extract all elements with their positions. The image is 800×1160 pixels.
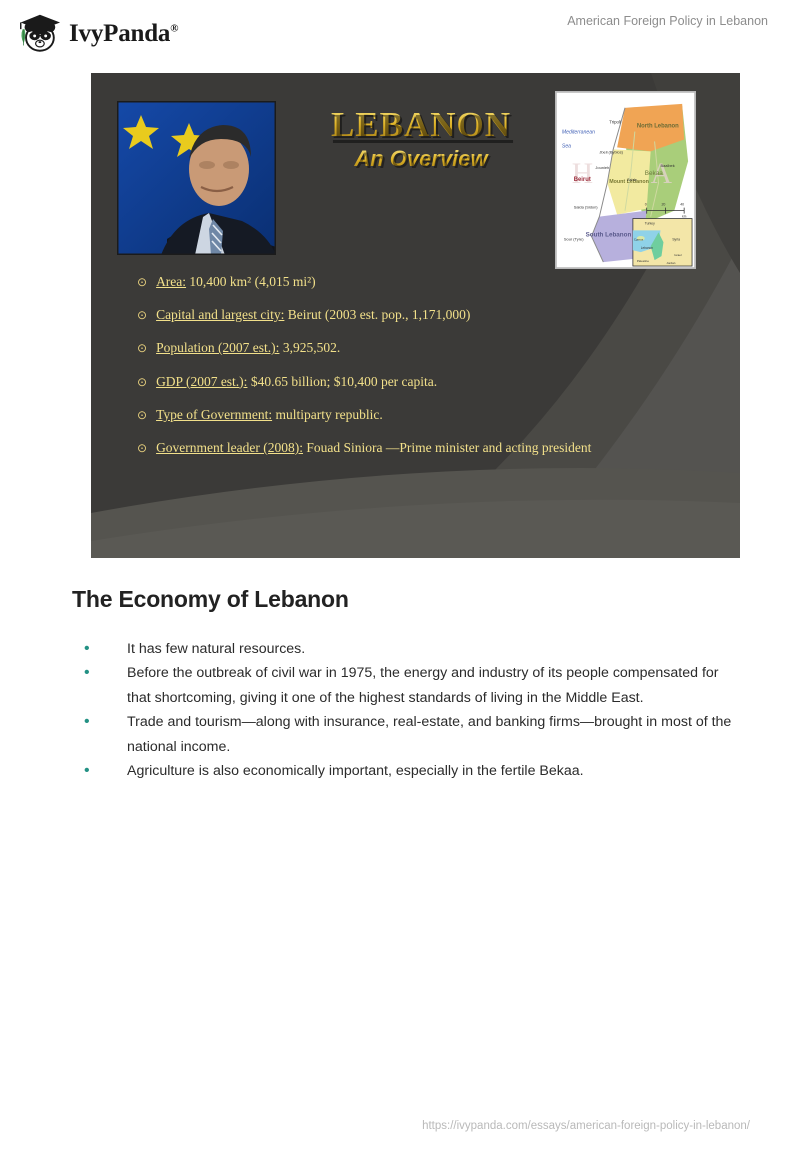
svg-text:Jounieh: Jounieh [595, 165, 609, 170]
svg-text:South Lebanon: South Lebanon [586, 231, 632, 238]
fact-body: Capital and largest city: Beirut (2003 e… [156, 307, 470, 323]
list-item: • Before the outbreak of civil war in 19… [72, 661, 732, 710]
document-title: American Foreign Policy in Lebanon [567, 14, 768, 28]
fact-value: $40.65 billion; $10,400 per capita. [251, 374, 437, 389]
svg-text:H: H [572, 158, 593, 190]
svg-text:Bekaa: Bekaa [645, 170, 664, 177]
list-item: ⊙ GDP (2007 est.): $40.65 billion; $10,4… [137, 374, 717, 390]
svg-text:Palestine: Palestine [637, 259, 649, 263]
lebanon-map: H A Mediterranean Sea North Lebanon Moun… [555, 91, 696, 269]
panda-graduate-logo-icon [14, 10, 62, 56]
article-bullet-list: • It has few natural resources. • Before… [72, 637, 732, 784]
brand-logo-group[interactable]: IvyPanda® [14, 10, 178, 56]
svg-text:Israel: Israel [674, 253, 682, 257]
fact-body: Area: 10,400 km² (4,015 mi²) [156, 274, 316, 290]
fact-value: 10,400 km² (4,015 mi²) [189, 274, 315, 289]
fact-value: 3,925,502. [283, 340, 340, 355]
fact-value: Fouad Siniora —Prime minister and acting… [306, 440, 591, 455]
list-item: ⊙ Area: 10,400 km² (4,015 mi²) [137, 274, 717, 290]
svg-text:Zahle: Zahle [627, 177, 638, 182]
svg-text:km: km [682, 215, 687, 219]
slide-title-artwork: LEBANON An Overview [281, 107, 561, 172]
svg-text:Syria: Syria [672, 237, 680, 241]
list-item: • Trade and tourism—along with insurance… [72, 710, 732, 759]
map-inset: Turkey Syria Cyprus Lebanon Israel Pales… [633, 219, 692, 266]
page-title: The Economy of Lebanon [72, 586, 732, 613]
circled-dot-icon: ⊙ [137, 340, 147, 356]
list-item-text: Agriculture is also economically importa… [127, 763, 584, 779]
svg-text:Mediterranean: Mediterranean [562, 130, 595, 136]
bullet-icon: • [84, 759, 90, 784]
fact-body: Government leader (2008): Fouad Siniora … [156, 440, 591, 456]
slide-fact-list: ⊙ Area: 10,400 km² (4,015 mi²) ⊙ Capital… [137, 274, 717, 473]
circled-dot-icon: ⊙ [137, 407, 147, 423]
article-body: The Economy of Lebanon • It has few natu… [72, 586, 732, 784]
svg-text:Jbeil (Byblos): Jbeil (Byblos) [599, 149, 623, 154]
svg-text:Lebanon: Lebanon [641, 246, 653, 250]
page-header: IvyPanda® American Foreign Policy in Leb… [0, 0, 800, 66]
circled-dot-icon: ⊙ [137, 374, 147, 390]
list-item-text: It has few natural resources. [127, 641, 305, 657]
bullet-icon: • [84, 710, 90, 735]
brand-name: IvyPanda® [69, 21, 178, 46]
list-item: ⊙ Government leader (2008): Fouad Sinior… [137, 440, 717, 456]
fact-label: Population (2007 est.): [156, 340, 279, 355]
source-url[interactable]: https://ivypanda.com/essays/american-for… [422, 1120, 750, 1132]
fact-label: GDP (2007 est.): [156, 374, 247, 389]
list-item: ⊙ Type of Government: multiparty republi… [137, 407, 717, 423]
slide-title: LEBANON [281, 107, 561, 144]
svg-text:0: 0 [645, 203, 647, 207]
fact-label: Capital and largest city: [156, 307, 284, 322]
bullet-icon: • [84, 661, 90, 686]
fact-label: Government leader (2008): [156, 440, 303, 455]
list-item-text: Trade and tourism—along with insurance, … [127, 714, 731, 754]
presentation-slide: LEBANON An Overview [91, 73, 740, 558]
bullet-icon: • [84, 637, 90, 662]
svg-text:40: 40 [680, 203, 684, 207]
svg-text:Tripoli: Tripoli [609, 120, 621, 125]
svg-text:Baalbek: Baalbek [660, 163, 674, 168]
slide-subtitle: An Overview [281, 146, 561, 172]
svg-text:North Lebanon: North Lebanon [637, 124, 679, 130]
svg-text:20: 20 [661, 203, 665, 207]
fact-body: GDP (2007 est.): $40.65 billion; $10,400… [156, 374, 437, 390]
svg-text:Beirut: Beirut [574, 177, 591, 183]
circled-dot-icon: ⊙ [137, 307, 147, 323]
leader-photo [117, 101, 276, 255]
svg-text:Sea: Sea [562, 143, 571, 149]
list-item: • It has few natural resources. [72, 637, 732, 661]
fact-label: Area: [156, 274, 186, 289]
svg-text:Saida (Sidon): Saida (Sidon) [574, 205, 599, 210]
fact-label: Type of Government: [156, 407, 272, 422]
fact-value: multiparty republic. [275, 407, 382, 422]
circled-dot-icon: ⊙ [137, 440, 147, 456]
svg-text:Sour (Tyre): Sour (Tyre) [564, 236, 584, 241]
fact-body: Type of Government: multiparty republic. [156, 407, 383, 423]
list-item-text: Before the outbreak of civil war in 1975… [127, 665, 719, 705]
registered-mark: ® [170, 22, 178, 34]
list-item: • Agriculture is also economically impor… [72, 759, 732, 783]
svg-text:Turkey: Turkey [645, 221, 655, 225]
svg-text:Jordan: Jordan [666, 261, 675, 265]
list-item: ⊙ Population (2007 est.): 3,925,502. [137, 340, 717, 356]
fact-value: Beirut (2003 est. pop., 1,171,000) [288, 307, 471, 322]
fact-body: Population (2007 est.): 3,925,502. [156, 340, 340, 356]
svg-text:Cyprus: Cyprus [634, 237, 644, 241]
page-footer: https://ivypanda.com/essays/american-for… [0, 1116, 800, 1134]
circled-dot-icon: ⊙ [137, 274, 147, 290]
list-item: ⊙ Capital and largest city: Beirut (2003… [137, 307, 717, 323]
